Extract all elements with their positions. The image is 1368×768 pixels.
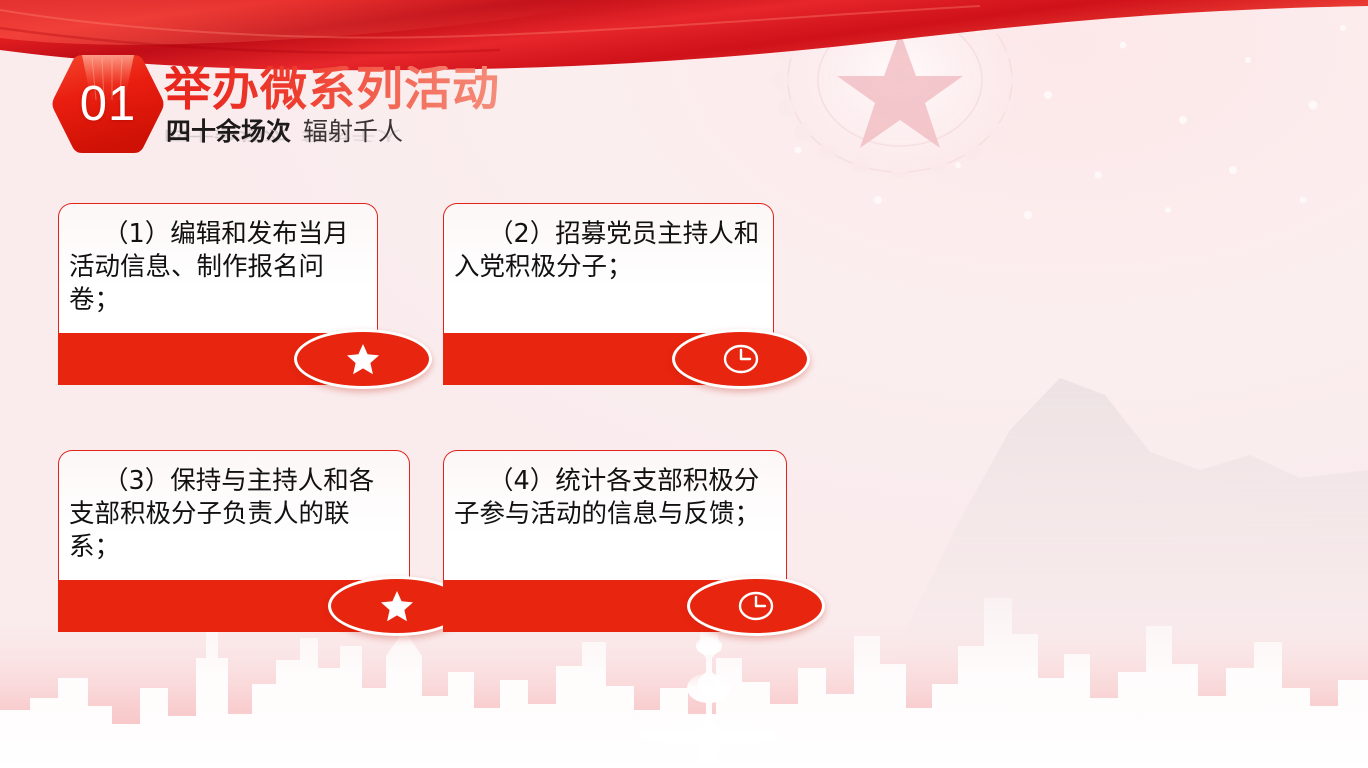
task-card-footer (443, 580, 787, 632)
task-card-3[interactable]: （3）保持与主持人和各支部积极分子负责人的联系； (58, 450, 410, 632)
task-card-text: （2）招募党员主持人和入党积极分子； (454, 218, 763, 284)
task-card-2[interactable]: （2）招募党员主持人和入党积极分子； (443, 203, 774, 385)
task-card-4[interactable]: （4）统计各支部积极分子参与活动的信息与反馈； (443, 450, 787, 632)
party-star-emblem (735, 0, 1065, 210)
title-block: 举办微系列活动 四十余场次 辐射千人 四十余场次 辐射千人 (164, 66, 500, 182)
task-card-footer (443, 333, 774, 385)
task-card-badge[interactable] (672, 329, 810, 389)
slide-canvas: 01 举办微系列活动 四十余场次 辐射千人 四十余场次 辐射千人 （1）编辑和发… (0, 0, 1368, 768)
section-number-label: 01 (52, 52, 164, 156)
section-number-badge: 01 (52, 52, 164, 156)
reflection-strong: 四十余场次 (164, 128, 289, 144)
task-card-text: （4）统计各支部积极分子参与活动的信息与反馈； (454, 465, 776, 531)
task-card-text: （3）保持与主持人和各支部积极分子负责人的联系； (69, 465, 399, 564)
task-card-body: （4）统计各支部积极分子参与活动的信息与反馈； (443, 450, 787, 580)
task-card-body: （1）编辑和发布当月活动信息、制作报名问卷； (58, 203, 378, 333)
clock-icon (722, 340, 760, 378)
task-card-footer (58, 580, 410, 632)
task-card-1[interactable]: （1）编辑和发布当月活动信息、制作报名问卷； (58, 203, 378, 385)
page-title: 举办微系列活动 (164, 66, 500, 114)
task-card-text: （1）编辑和发布当月活动信息、制作报名问卷； (69, 218, 367, 317)
task-card-badge[interactable] (294, 329, 432, 389)
slide-header: 01 举办微系列活动 四十余场次 辐射千人 四十余场次 辐射千人 (52, 52, 692, 167)
task-card-body: （3）保持与主持人和各支部积极分子负责人的联系； (58, 450, 410, 580)
reflection-light: 辐射千人 (301, 128, 401, 144)
task-card-badge[interactable] (687, 576, 825, 636)
star-icon (346, 343, 380, 376)
subtitle-reflection: 四十余场次 辐射千人 (164, 127, 500, 147)
task-card-body: （2）招募党员主持人和入党积极分子； (443, 203, 774, 333)
dot-pattern (728, 0, 1368, 240)
task-card-footer (58, 333, 378, 385)
clock-icon (737, 587, 775, 625)
star-icon (380, 590, 414, 623)
